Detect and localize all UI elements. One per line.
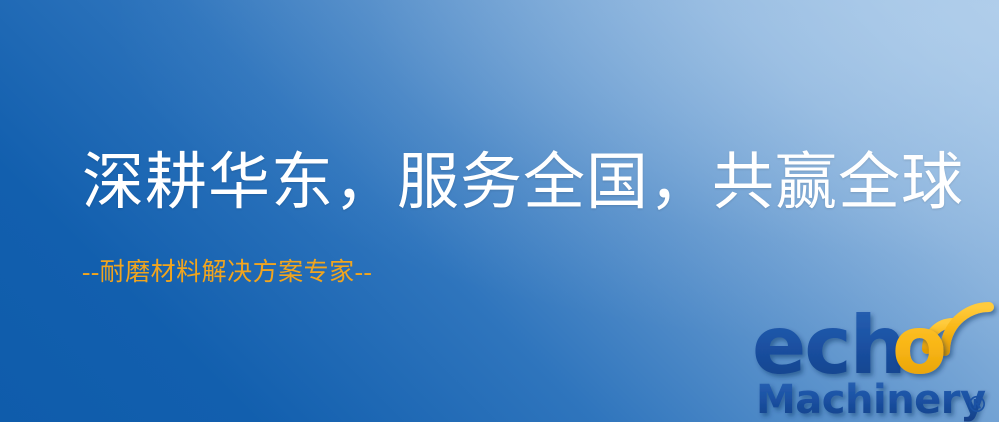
banner-headline: 深耕华东，服务全国，共赢全球 (82, 150, 964, 217)
banner-subtitle: --耐磨材料解决方案专家-- (82, 217, 964, 287)
banner-text-block: 深耕华东，服务全国，共赢全球 --耐磨材料解决方案专家-- (82, 150, 964, 286)
registered-trademark-icon: ® (966, 393, 988, 418)
logo-artwork: ech o Machinery ® (752, 296, 999, 422)
hero-banner: 深耕华东，服务全国，共赢全球 --耐磨材料解决方案专家-- (0, 0, 999, 422)
logo-tagline: Machinery (756, 377, 986, 422)
echo-machinery-logo[interactable]: ech o Machinery ® (752, 296, 999, 422)
